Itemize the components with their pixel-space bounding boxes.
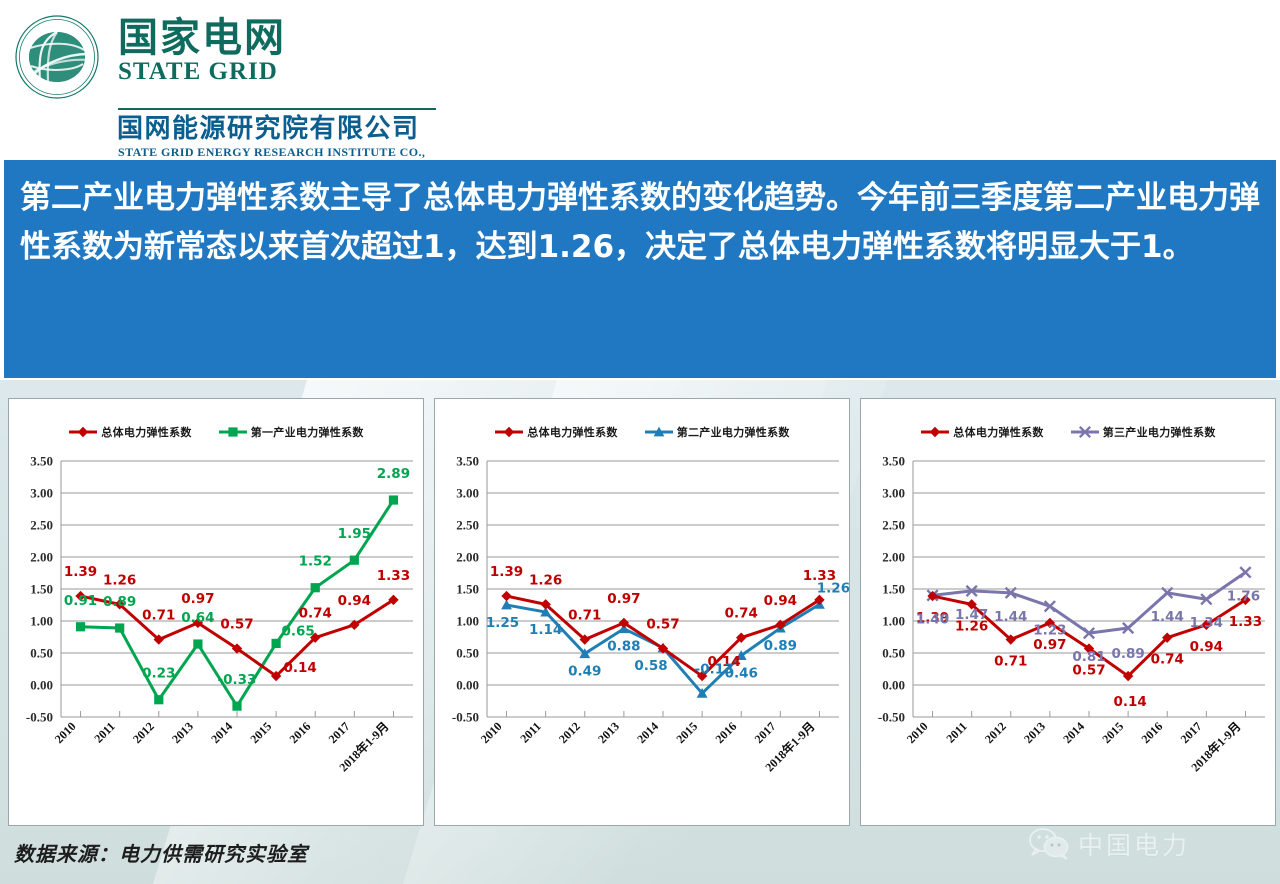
data-point-label: 0.57 [220,617,253,633]
data-point-marker [154,695,163,704]
x-axis-tick-label: 2010 [478,719,505,746]
data-point-marker [311,583,320,592]
data-point-label: 0.71 [142,608,175,624]
data-point-label: 0.74 [725,606,758,622]
watermark-text: 中国电力 [1078,826,1190,862]
x-axis-tick-label: 2017 [326,719,353,746]
legend-item-total[interactable]: 总体电力弹性系数 [68,424,191,440]
legend-label: 总体电力弹性系数 [953,424,1043,440]
chart-legend: 总体电力弹性系数第二产业电力弹性系数 [435,421,849,443]
data-point-label: 0.89 [103,594,136,610]
chart-svg: 3.503.002.502.001.501.000.500.00-0.50201… [435,447,849,825]
data-point-label: 0.89 [764,638,797,654]
legend-item-industry[interactable]: 第一产业电力弹性系数 [218,424,364,440]
data-point-label: 0.97 [1033,637,1066,653]
state-grid-globe-emblem-icon [14,14,100,100]
legend-marker-square-icon [218,425,248,439]
data-point-label: 0.14 [1113,694,1146,710]
data-point-label: 0.58 [634,658,667,674]
x-axis-tick-label: 2016 [1138,719,1165,746]
data-point-marker [350,556,359,565]
data-point-label: 1.26 [103,572,136,588]
chart-plot-area: 3.503.002.502.001.501.000.500.00-0.50201… [861,447,1275,825]
legend-item-industry[interactable]: 第三产业电力弹性系数 [1070,424,1216,440]
data-point-label: 1.33 [377,568,410,584]
watermark: 中国电力 [1028,822,1268,866]
data-point-marker [272,639,281,648]
y-axis-tick-label: -0.50 [26,710,53,725]
banner-text: 第二产业电力弹性系数主导了总体电力弹性系数的变化趋势。今年前三季度第二产业电力弹… [20,174,1260,272]
chart-panel-secondary-industry: 总体电力弹性系数第二产业电力弹性系数 3.503.002.502.001.501… [434,398,850,826]
legend-marker-diamond-icon [494,425,524,439]
data-point-label: 0.14 [283,660,316,676]
y-axis-tick-label: 3.00 [882,486,905,501]
chart-svg: 3.503.002.502.001.501.000.500.00-0.50201… [861,447,1275,825]
y-axis-tick-label: -0.50 [452,710,479,725]
chart-legend: 总体电力弹性系数第三产业电力弹性系数 [861,421,1275,443]
data-point-label: 0.49 [568,664,601,680]
data-point-label: 0.88 [607,639,640,655]
x-axis-tick-label: 2015 [673,719,700,746]
x-axis-tick-label: 2015 [1099,719,1126,746]
x-axis-tick-label: 2014 [634,719,661,746]
data-point-label: 1.76 [1227,588,1260,604]
y-axis-tick-label: 2.50 [882,518,905,533]
x-axis-tick-label: 2012 [982,719,1009,746]
chart-panel-tertiary-industry: 总体电力弹性系数第三产业电力弹性系数 3.503.002.502.001.501… [860,398,1276,826]
x-axis-tick-label: 2016 [286,719,313,746]
chart-plot-area: 3.503.002.502.001.501.000.500.00-0.50201… [9,447,423,825]
title-banner: 第二产业电力弹性系数主导了总体电力弹性系数的变化趋势。今年前三季度第二产业电力弹… [4,160,1276,378]
y-axis-tick-label: 3.00 [30,486,53,501]
x-axis-tick-label: 2012 [556,719,583,746]
data-point-label: 0.64 [181,610,214,626]
y-axis-tick-label: 2.00 [456,550,479,565]
data-point-label: 0.71 [568,608,601,624]
data-point-label: 1.52 [299,554,332,570]
y-axis-tick-label: 3.50 [30,454,53,469]
legend-label: 总体电力弹性系数 [101,424,191,440]
x-axis-tick-label: 2010 [904,719,931,746]
slide-header: 国家电网 STATE GRID 国网能源研究院有限公司 STATE GRID E… [0,0,1280,155]
legend-item-total[interactable]: 总体电力弹性系数 [494,424,617,440]
data-point-label: 0.94 [338,593,371,609]
chart-panel-primary-industry: 总体电力弹性系数第一产业电力弹性系数 3.503.002.502.001.501… [8,398,424,826]
y-axis-tick-label: 1.50 [30,582,53,597]
chart-svg: 3.503.002.502.001.501.000.500.00-0.50201… [9,447,423,825]
y-axis-tick-label: 1.00 [30,614,53,629]
data-point-marker [232,702,241,711]
y-axis-tick-label: 1.00 [456,614,479,629]
y-axis-tick-label: 1.50 [456,582,479,597]
brand-text-block: 国家电网 STATE GRID [118,18,286,85]
data-point-marker [193,639,202,648]
y-axis-tick-label: 0.00 [882,678,905,693]
x-axis-tick-label: 2010 [52,719,79,746]
y-axis-tick-label: 2.00 [882,550,905,565]
y-axis-tick-label: 3.50 [456,454,479,469]
chart-legend: 总体电力弹性系数第一产业电力弹性系数 [9,421,423,443]
data-point-label: 1.44 [994,609,1027,625]
brand-name-en: STATE GRID [118,58,286,86]
legend-label: 第二产业电力弹性系数 [677,424,790,440]
x-axis-tick-label: 2013 [1021,719,1048,746]
data-point-label: 0.74 [1151,652,1184,668]
data-point-label: 1.26 [529,572,562,588]
legend-label: 总体电力弹性系数 [527,424,617,440]
divider [118,108,436,110]
legend-marker-x-icon [1070,425,1100,439]
x-axis-tick-label: 2016 [712,719,739,746]
data-point-label: 0.65 [281,623,314,639]
data-point-label: 1.39 [490,564,523,580]
y-axis-tick-label: 0.50 [30,646,53,661]
x-axis-tick-label: 2011 [91,719,117,745]
data-point-label: 0.74 [299,606,332,622]
y-axis-tick-label: 1.50 [882,582,905,597]
charts-row: 总体电力弹性系数第一产业电力弹性系数 3.503.002.502.001.501… [0,398,1280,828]
data-point-marker [1240,567,1250,577]
legend-marker-triangle-icon [644,425,674,439]
y-axis-tick-label: 2.50 [456,518,479,533]
data-point-label: 0.89 [1111,646,1144,662]
x-axis-tick-label: 2013 [595,719,622,746]
data-point-marker [76,622,85,631]
data-point-label: 1.33 [1229,614,1262,630]
y-axis-tick-label: 2.00 [30,550,53,565]
legend-label: 第一产业电力弹性系数 [251,424,364,440]
logo-block: 国家电网 STATE GRID 国网能源研究院有限公司 STATE GRID E… [14,12,434,144]
x-axis-tick-label: 2011 [943,719,969,745]
data-point-marker [501,591,511,601]
institute-name-cn: 国网能源研究院有限公司 [117,115,420,143]
x-axis-tick-label: 2017 [752,719,779,746]
data-point-label: -0.33 [218,672,257,688]
x-axis-tick-label: 2011 [517,719,543,745]
legend-label: 第三产业电力弹性系数 [1103,424,1216,440]
data-point-label: 1.44 [1151,609,1184,625]
data-point-label: 1.25 [486,615,519,631]
x-axis-tick-label: 2014 [208,719,235,746]
data-point-label: 1.39 [64,564,97,580]
legend-marker-diamond-icon [920,425,950,439]
data-point-label: 0.91 [64,593,97,609]
data-point-label: 1.26 [817,580,849,596]
y-axis-tick-label: -0.50 [878,710,905,725]
data-point-marker [115,623,124,632]
slide-page: 国家电网 STATE GRID 国网能源研究院有限公司 STATE GRID E… [0,0,1280,884]
data-point-label: 0.57 [646,617,679,633]
chart-plot-area: 3.503.002.502.001.501.000.500.00-0.50201… [435,447,849,825]
data-point-label: 1.14 [529,622,562,638]
y-axis-tick-label: 3.50 [882,454,905,469]
y-axis-tick-label: 3.00 [456,486,479,501]
data-point-label: 0.97 [607,591,640,607]
wechat-icon [1028,827,1070,861]
data-point-label: 1.47 [955,607,988,623]
data-point-label: 1.95 [338,526,371,542]
data-point-label: 0.23 [142,666,175,682]
data-point-label: 0.94 [764,593,797,609]
data-point-label: 0.94 [1190,639,1223,655]
y-axis-tick-label: 2.50 [30,518,53,533]
legend-item-total[interactable]: 总体电力弹性系数 [920,424,1043,440]
y-axis-tick-label: 0.50 [882,646,905,661]
data-point-label: 0.46 [725,666,758,682]
data-source-label: 数据来源：电力供需研究实验室 [14,838,308,867]
brand-name-cn: 国家电网 [118,18,286,59]
legend-marker-diamond-icon [68,425,98,439]
x-axis-tick-label: 2012 [130,719,157,746]
data-point-label: 1.23 [1033,622,1066,638]
x-axis-tick-label: 2014 [1060,719,1087,746]
y-axis-tick-label: 0.00 [456,678,479,693]
y-axis-tick-label: 0.50 [456,646,479,661]
data-point-label: 0.71 [994,654,1027,670]
data-point-marker [389,495,398,504]
x-axis-tick-label: 2015 [247,719,274,746]
data-point-label: 1.40 [916,611,949,627]
data-point-label: 2.89 [377,466,410,482]
data-point-label: 1.34 [1190,615,1223,631]
data-point-label: 0.81 [1072,649,1105,665]
x-axis-tick-label: 2013 [169,719,196,746]
x-axis-tick-label: 2017 [1178,719,1205,746]
legend-item-industry[interactable]: 第二产业电力弹性系数 [644,424,790,440]
y-axis-tick-label: 1.00 [882,614,905,629]
y-axis-tick-label: 0.00 [30,678,53,693]
data-point-label: 0.97 [181,591,214,607]
